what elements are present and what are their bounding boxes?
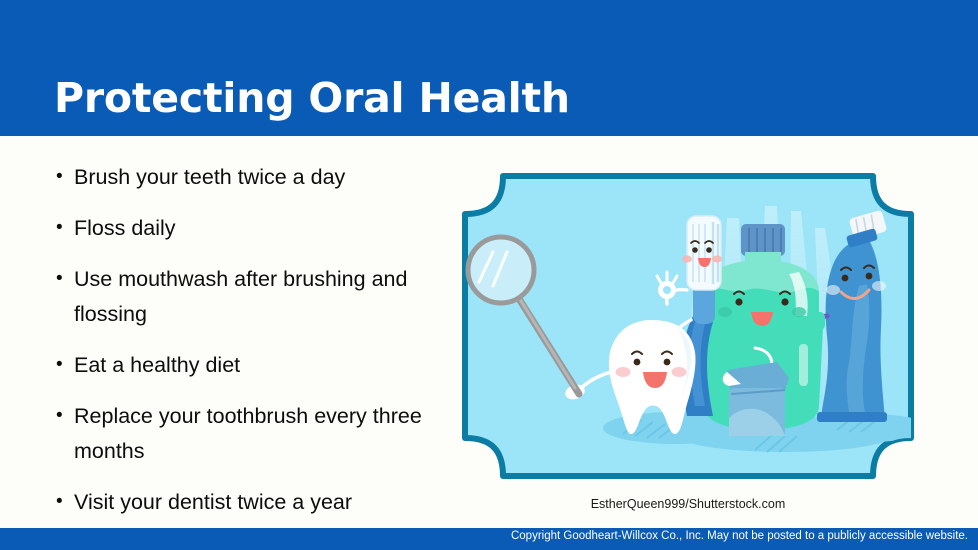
slide: Protecting Oral Health Brush your teeth … xyxy=(0,0,978,550)
image-credit: EstherQueen999/Shutterstock.com xyxy=(455,497,921,511)
bullet-list: Brush your teeth twice a day Floss daily… xyxy=(50,160,440,550)
list-item: Replace your toothbrush every three mont… xyxy=(50,399,440,469)
illustration xyxy=(455,166,921,486)
list-item: Eat a healthy diet xyxy=(50,348,440,383)
list-item: Floss daily xyxy=(50,211,440,246)
page-title: Protecting Oral Health xyxy=(54,74,570,122)
floss-box xyxy=(723,362,789,436)
copyright-notice: Copyright Goodheart-Willcox Co., Inc. Ma… xyxy=(511,530,968,542)
list-item: Use mouthwash after brushing and flossin… xyxy=(50,262,440,332)
list-item: Visit your dentist twice a year xyxy=(50,485,440,520)
list-item: Brush your teeth twice a day xyxy=(50,160,440,195)
